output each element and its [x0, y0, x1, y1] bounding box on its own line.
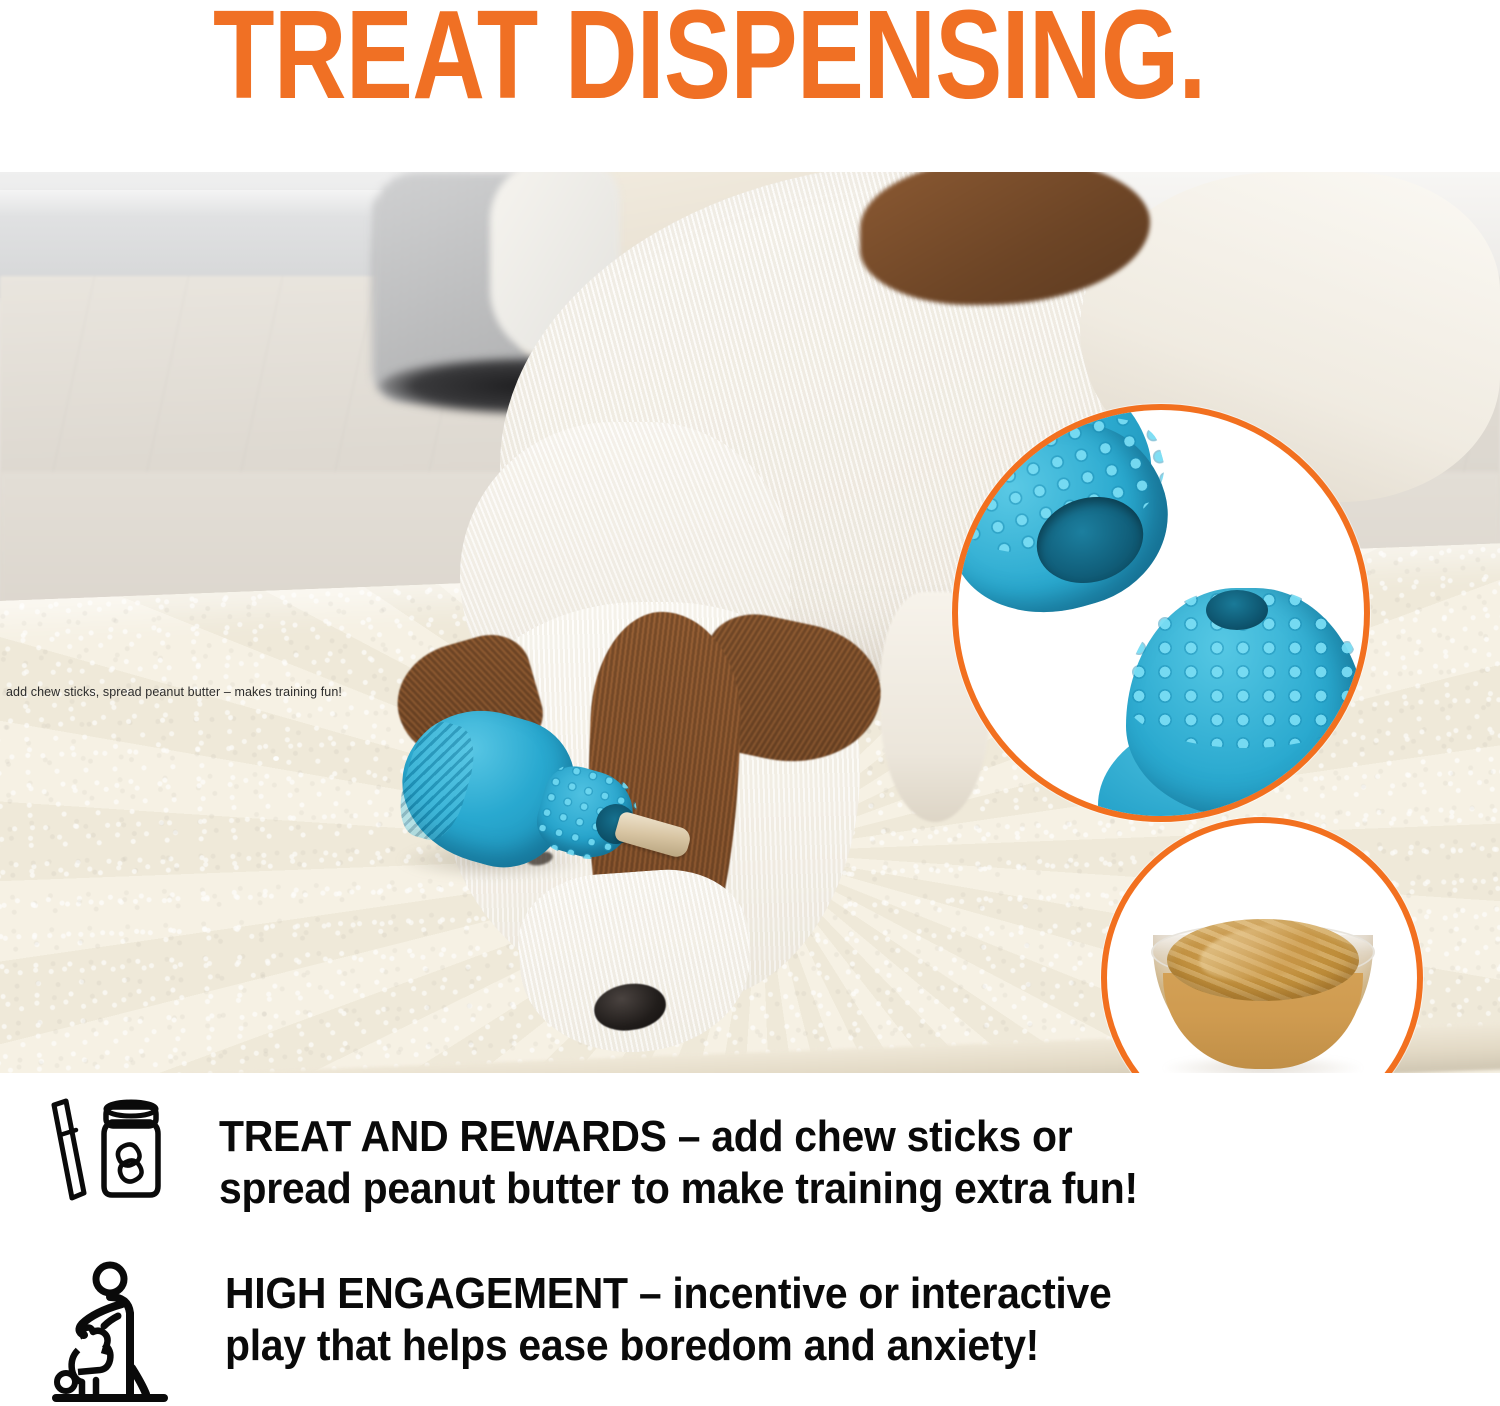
blue-treat-toy	[390, 700, 610, 880]
feature-2-line-2: play that helps ease boredom and anxiety…	[225, 1320, 1500, 1372]
page-title: TREAT DISPENSING.	[213, 0, 1206, 125]
headline-band: TREAT DISPENSING.	[0, 0, 1500, 172]
feature-treat-and-rewards: TREAT AND REWARDS – add chew sticks or s…	[36, 1097, 1500, 1232]
feature-2-line-1: HIGH ENGAGEMENT – incentive or interacti…	[225, 1268, 1500, 1320]
product-infographic-page: TREAT DISPENSING.	[0, 0, 1500, 1406]
photo-alt-caption: add chew sticks, spread peanut butter – …	[6, 685, 342, 699]
person-playing-with-dog-icon	[48, 1260, 178, 1406]
feature-1-text: TREAT AND REWARDS – add chew sticks or s…	[219, 1111, 1500, 1215]
feature-1-line-2: spread peanut butter to make training ex…	[219, 1163, 1500, 1215]
feature-list: TREAT AND REWARDS – add chew sticks or s…	[0, 1073, 1500, 1406]
closeup-toy-lower-opening	[1206, 590, 1268, 630]
chew-stick-and-peanut-butter-jar-icon	[36, 1097, 186, 1232]
hero-photo: add chew sticks, spread peanut butter – …	[0, 172, 1500, 1073]
dog-muzzle	[514, 864, 756, 1060]
inset-toy-closeup	[952, 404, 1370, 822]
feature-high-engagement: HIGH ENGAGEMENT – incentive or interacti…	[48, 1260, 1500, 1406]
feature-2-text: HIGH ENGAGEMENT – incentive or interacti…	[225, 1268, 1500, 1372]
feature-1-line-1: TREAT AND REWARDS – add chew sticks or	[219, 1111, 1500, 1163]
